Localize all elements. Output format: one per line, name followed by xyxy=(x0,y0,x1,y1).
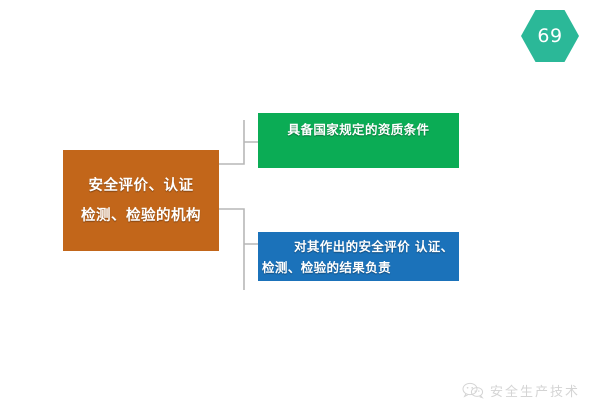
node-source-line-2: 检测、检验的机构 xyxy=(81,201,201,231)
page-number-badge: 69 xyxy=(521,10,579,62)
node-source-organization: 安全评价、认证 检测、检验的机构 xyxy=(63,150,219,251)
page-number-label: 69 xyxy=(521,10,579,62)
slide-canvas: 69 安全评价、认证 检测、检验的机构 具备国家规定的资质条件 对其作出的安全评… xyxy=(0,0,600,415)
node-branch-qualification: 具备国家规定的资质条件 xyxy=(258,113,459,168)
node-source-line-1: 安全评价、认证 xyxy=(89,171,194,201)
node-green-line-1: 具备国家规定的资质条件 xyxy=(288,120,430,140)
node-blue-line-1: 对其作出的安全评价 认证、 xyxy=(262,236,454,257)
node-blue-line-2: 检测、检验的结果负责 xyxy=(262,257,391,278)
watermark: 安全生产技术 xyxy=(462,381,580,400)
wechat-icon xyxy=(462,382,484,399)
watermark-text: 安全生产技术 xyxy=(490,381,580,400)
node-branch-responsibility: 对其作出的安全评价 认证、 检测、检验的结果负责 xyxy=(258,232,459,281)
